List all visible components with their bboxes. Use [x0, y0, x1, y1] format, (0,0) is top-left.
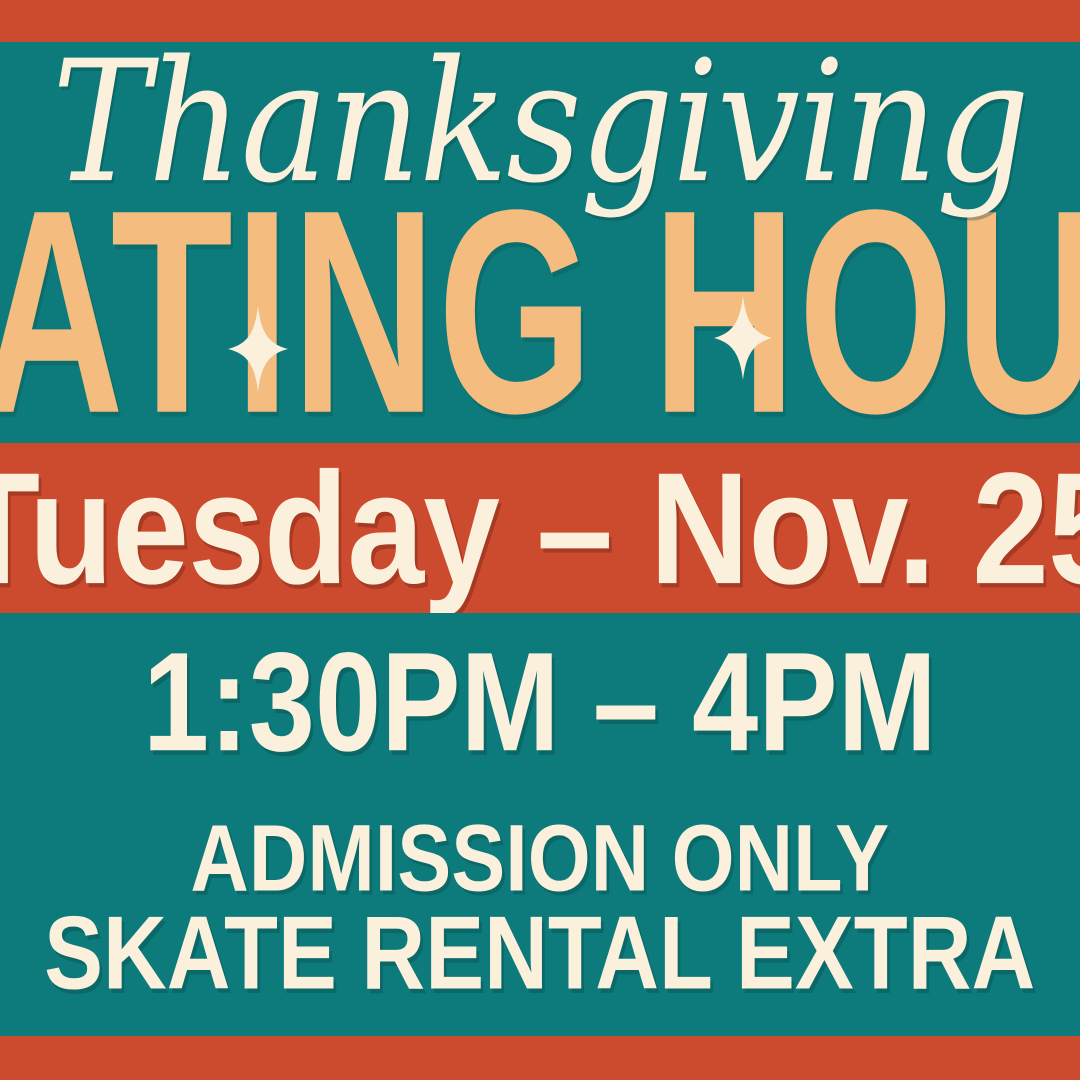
script-title: Thanksgiving	[52, 39, 1028, 207]
thanksgiving-skating-hours-flyer: Thanksgiving SKATING HOURS Tuesday – Nov…	[0, 0, 1080, 1080]
time-container: 1:30PM – 4PM	[0, 628, 1080, 778]
note-line-admission: ADMISSION ONLY	[191, 810, 890, 905]
note-line-rental: SKATE RENTAL EXTRA	[44, 902, 1035, 1006]
headline-container: SKATING HOURS	[0, 186, 1080, 438]
bottom-accent-bar	[0, 1036, 1080, 1080]
event-time: 1:30PM – 4PM	[143, 633, 937, 774]
notes-container: ADMISSION ONLY SKATE RENTAL EXTRA	[0, 805, 1080, 1010]
date-banner: Tuesday – Nov. 25	[0, 443, 1080, 613]
script-title-container: Thanksgiving	[0, 30, 1080, 215]
event-date: Tuesday – Nov. 25	[0, 449, 1080, 608]
